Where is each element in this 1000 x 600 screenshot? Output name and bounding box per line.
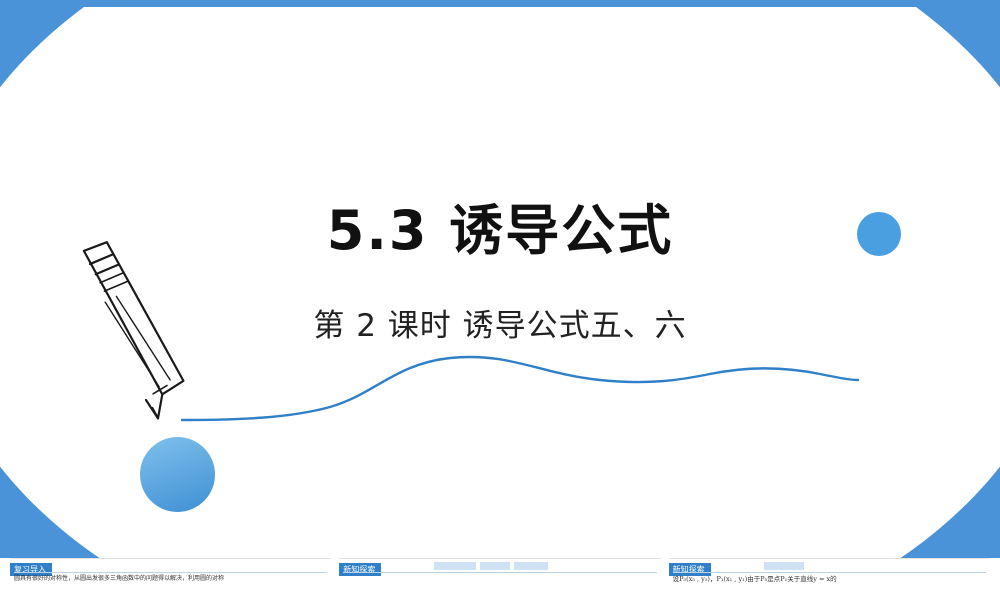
page-title-block: 5.3 诱导公式	[0, 186, 1000, 265]
thumbnail-bars	[434, 562, 548, 570]
circle-decor-left-icon	[140, 437, 215, 512]
wave-line-icon	[180, 352, 870, 427]
thumbnail-tag: 新知探索	[339, 563, 381, 576]
page-title: 5.3 诱导公式	[0, 186, 1000, 265]
thumbnail-slide-3[interactable]: 新知探索 设P₅(x₅ , y₅)，P₁(x₁ , y₁)由于P₅是点P₁关于直…	[669, 558, 990, 600]
thumbnail-bar	[434, 562, 476, 570]
thumbnail-slide-2[interactable]: 新知探索	[339, 558, 660, 600]
thumbnail-divider	[14, 572, 327, 573]
thumbnail-bar	[514, 562, 548, 570]
thumbnail-bar	[480, 562, 510, 570]
thumbnail-divider	[673, 572, 986, 573]
thumbnail-text: 圆具有很好的对称性，从圆出发很多三角函数中的问题得以解决，利用圆的对称	[14, 575, 327, 583]
slide: 5.3 诱导公式 第 2 课时 诱导公式五、六 复习导入 圆具有很好的对称性，从…	[0, 0, 1000, 600]
thumbnail-bars	[764, 562, 804, 570]
top-accent-strip	[0, 0, 1000, 7]
thumbnail-strip: 复习导入 圆具有很好的对称性，从圆出发很多三角函数中的问题得以解决，利用圆的对称…	[0, 558, 1000, 600]
thumbnail-divider	[343, 572, 656, 573]
page-subtitle: 第 2 课时 诱导公式五、六	[0, 300, 1000, 345]
thumbnail-bar	[764, 562, 804, 570]
thumbnail-text: 设P₅(x₅ , y₅)，P₁(x₁ , y₁)由于P₅是点P₁关于直线y = …	[673, 575, 986, 583]
thumbnail-slide-1[interactable]: 复习导入 圆具有很好的对称性，从圆出发很多三角函数中的问题得以解决，利用圆的对称	[10, 558, 331, 600]
